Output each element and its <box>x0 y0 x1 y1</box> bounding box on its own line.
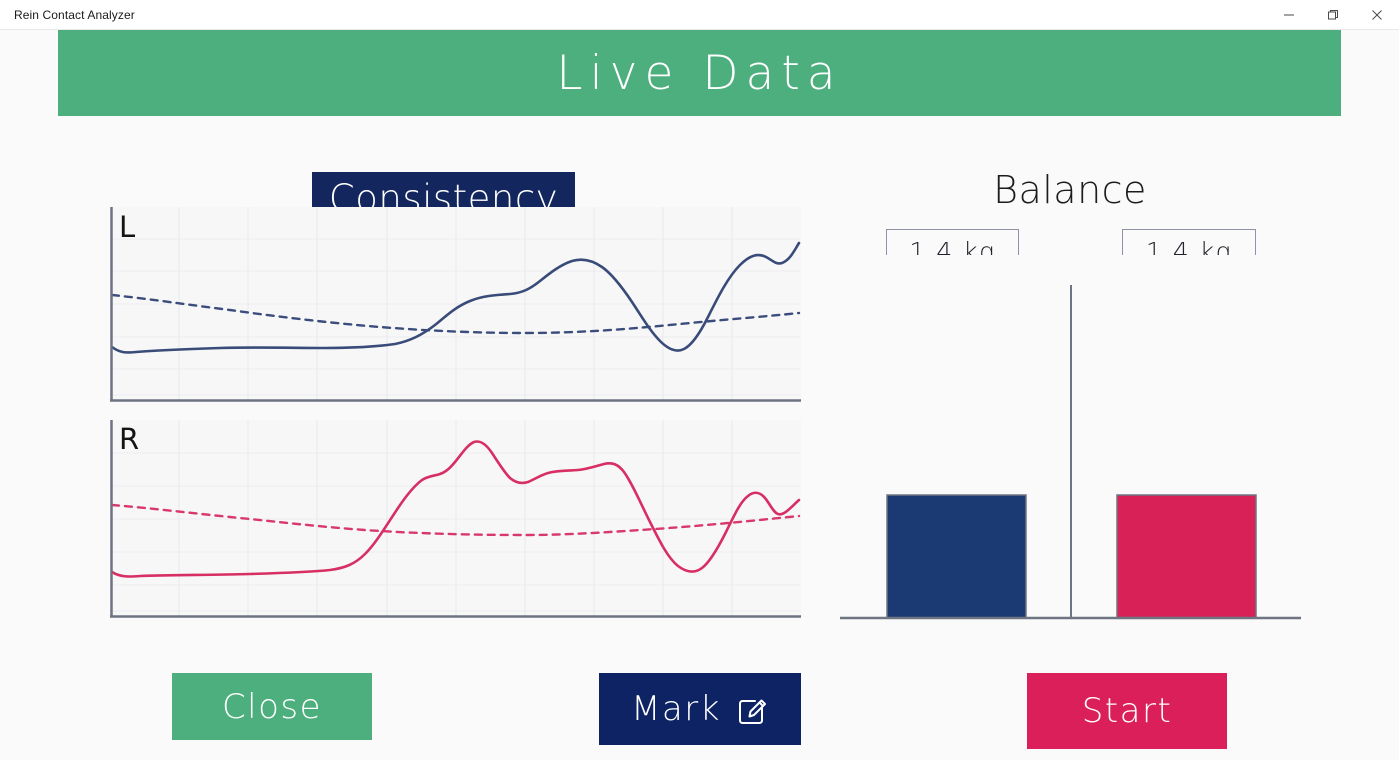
start-button[interactable]: Start <box>1027 673 1227 749</box>
close-button-label: Close <box>222 687 322 727</box>
maximize-button[interactable] <box>1311 0 1355 30</box>
close-icon <box>1371 9 1383 21</box>
right-channel-label: R <box>119 425 139 454</box>
window-controls <box>1267 0 1399 30</box>
banner-title: Live Data <box>556 46 842 101</box>
minimize-button[interactable] <box>1267 0 1311 30</box>
app-body: Live Data Consistency Balance <box>0 30 1399 760</box>
balance-bar-left <box>887 495 1026 618</box>
close-button[interactable] <box>1355 0 1399 30</box>
left-channel-label: L <box>119 213 135 242</box>
start-button-label: Start <box>1082 691 1173 731</box>
close-button-action[interactable]: Close <box>172 673 372 740</box>
balance-bar-chart <box>840 255 1301 620</box>
restore-icon <box>1327 9 1339 21</box>
window-title: Rein Contact Analyzer <box>0 8 135 22</box>
window-titlebar: Rein Contact Analyzer <box>0 0 1399 30</box>
mark-button-label: Mark <box>631 689 721 729</box>
note-pencil-icon <box>735 692 769 726</box>
live-data-banner: Live Data <box>58 30 1341 116</box>
consistency-left-chart <box>110 207 801 402</box>
balance-title: Balance <box>900 168 1240 212</box>
minimize-icon <box>1283 9 1295 21</box>
consistency-right-chart <box>110 420 801 618</box>
mark-button[interactable]: Mark <box>599 673 801 745</box>
balance-bar-right <box>1117 495 1256 618</box>
